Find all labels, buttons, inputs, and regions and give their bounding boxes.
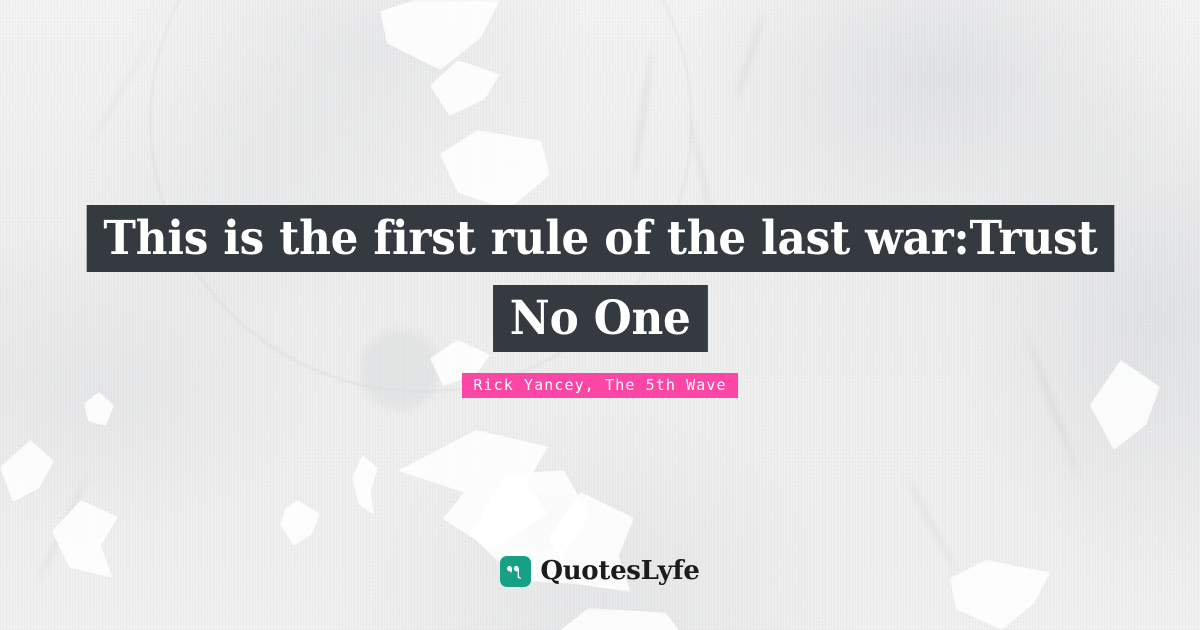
brand-logo[interactable]: QuotesLyfe (0, 556, 1200, 587)
quote-line-1: This is the first rule of the last war:T… (86, 205, 1114, 272)
quotation-mark-icon (500, 556, 531, 587)
brand-name: QuotesLyfe (540, 556, 699, 587)
quote-poster: This is the first rule of the last war:T… (0, 0, 1200, 630)
poster-content: This is the first rule of the last war:T… (0, 0, 1200, 630)
author-attribution-wrapper: Rick Yancey, The 5th Wave (0, 373, 1200, 398)
quote-line-2: No One (493, 285, 707, 352)
author-attribution-badge: Rick Yancey, The 5th Wave (462, 373, 737, 398)
quote-line-1-wrapper: This is the first rule of the last war:T… (0, 205, 1200, 272)
quote-text-block: This is the first rule of the last war:T… (0, 205, 1200, 352)
quote-line-2-wrapper: No One (0, 285, 1200, 352)
